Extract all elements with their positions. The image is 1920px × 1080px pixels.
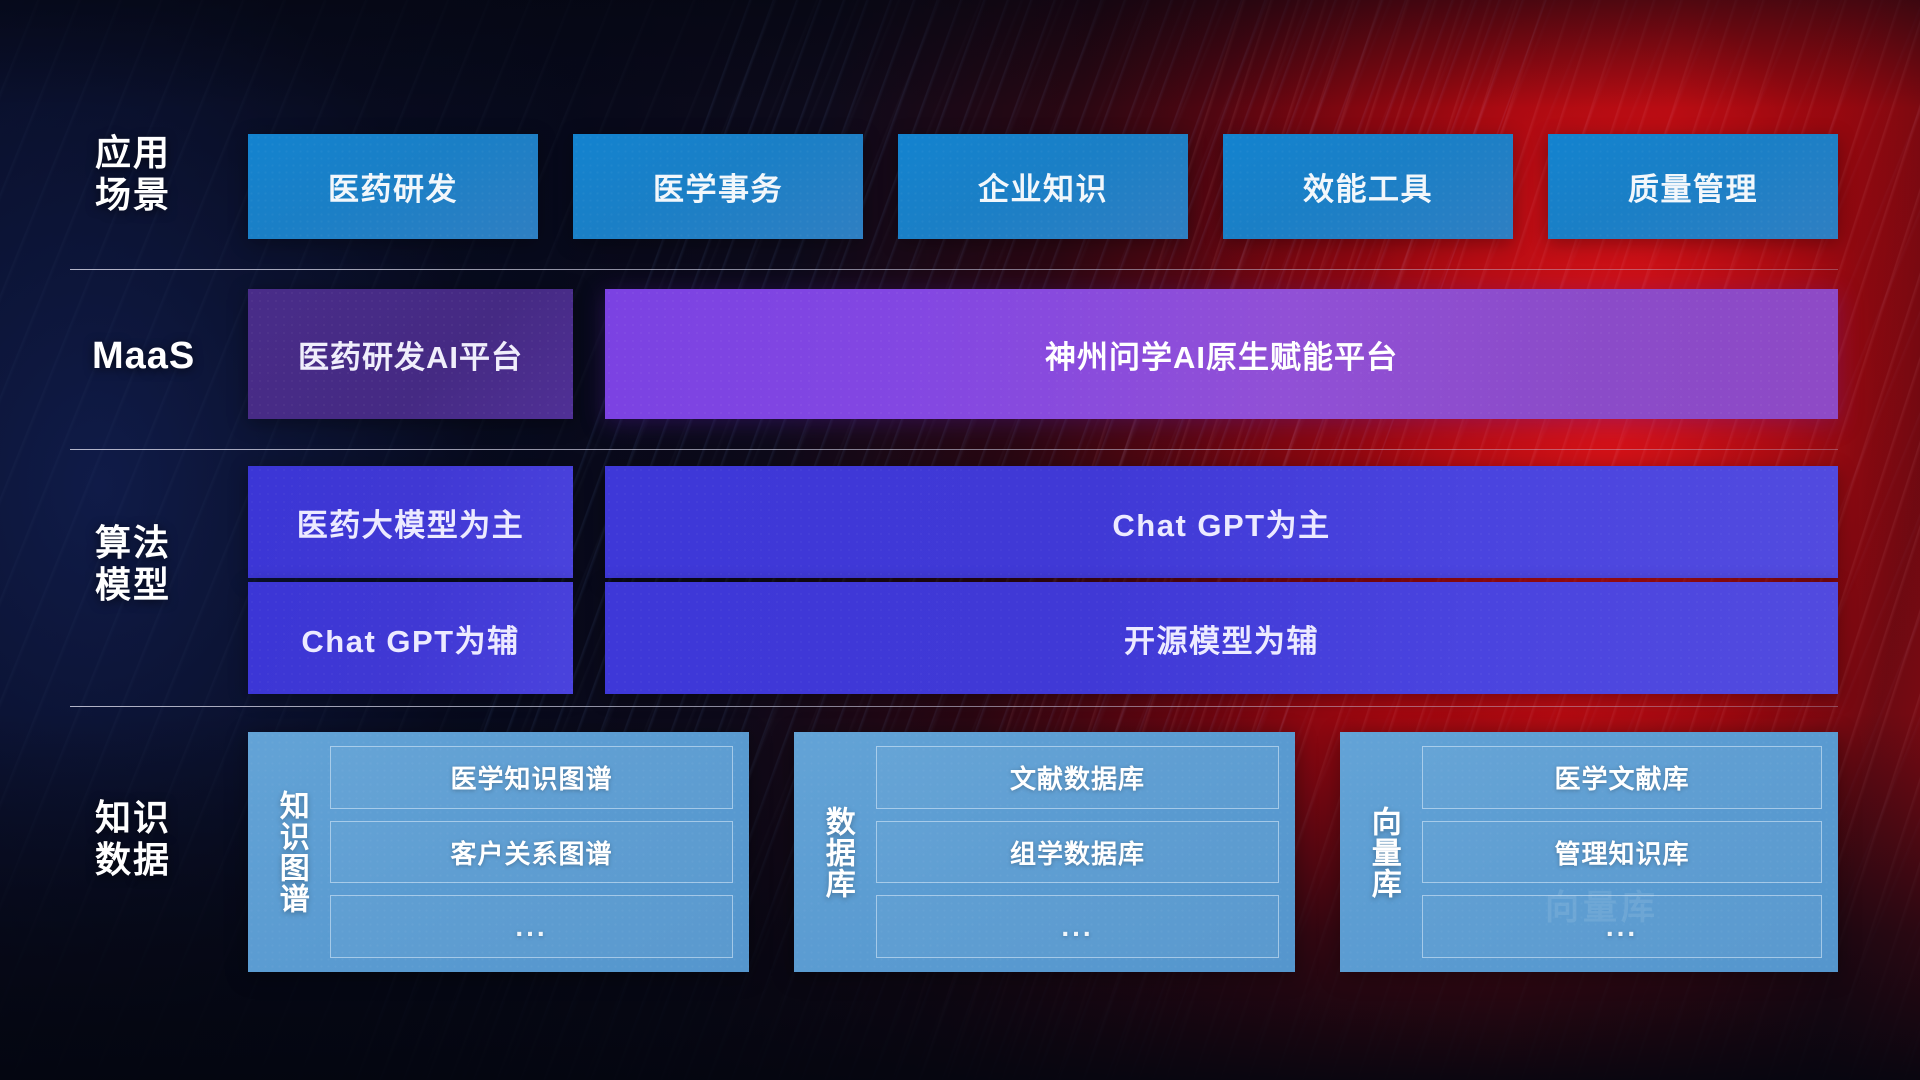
row-label-application: 应用 场景 [95, 132, 255, 216]
row-label-knowledge-line2: 数据 [95, 839, 265, 881]
knowledge-item-label: ... [1061, 911, 1093, 943]
knowledge-item-label: ... [515, 911, 547, 943]
knowledge-panel-vertical-label: 知识图谱 [258, 746, 324, 958]
knowledge-panel-vertical-label: 数据库 [804, 746, 870, 958]
app-box-medical-affairs[interactable]: 医学事务 [573, 134, 863, 239]
knowledge-item-label: 医学知识图谱 [450, 759, 612, 796]
app-box-label: 效能工具 [1303, 164, 1433, 209]
algo-box-opensource-secondary[interactable]: 开源模型为辅 [605, 582, 1838, 694]
knowledge-item[interactable]: 客户关系图谱 [330, 821, 733, 884]
algo-box-medicine-llm-primary[interactable]: 医药大模型为主 [248, 466, 573, 578]
app-box-label: 医学事务 [653, 164, 783, 209]
app-box-efficiency-tools[interactable]: 效能工具 [1223, 134, 1513, 239]
knowledge-item-label: 管理知识库 [1554, 834, 1689, 871]
knowledge-panel-graph[interactable]: 知识图谱 医学知识图谱 客户关系图谱 ... [248, 732, 749, 972]
knowledge-panel-items: 医学知识图谱 客户关系图谱 ... [324, 746, 733, 958]
architecture-diagram: 应用 场景 医药研发 医学事务 企业知识 效能工具 质量管理 MaaS 医药研发… [0, 0, 1920, 1080]
knowledge-item[interactable]: 管理知识库 [1422, 821, 1822, 884]
app-box-label: 质量管理 [1628, 164, 1758, 209]
knowledge-panel-items: 文献数据库 组学数据库 ... [870, 746, 1279, 958]
knowledge-panel-database[interactable]: 数据库 文献数据库 组学数据库 ... [794, 732, 1295, 972]
app-box-quality-management[interactable]: 质量管理 [1548, 134, 1838, 239]
row-label-algorithm: 算法 模型 [95, 522, 255, 606]
divider-application-maas [70, 269, 1838, 270]
row-label-maas-text: MaaS [92, 335, 195, 377]
knowledge-item[interactable]: 组学数据库 [876, 821, 1279, 884]
row-label-knowledge-line1: 知识 [95, 797, 265, 839]
divider-maas-algorithm [70, 449, 1838, 450]
maas-box-label: 医药研发AI平台 [298, 332, 523, 377]
algo-box-label: 医药大模型为主 [297, 500, 525, 545]
knowledge-item-label: 医学文献库 [1554, 759, 1689, 796]
maas-box-shenzhou-platform[interactable]: 神州问学AI原生赋能平台 [605, 289, 1838, 419]
knowledge-item-label: 文献数据库 [1010, 759, 1145, 796]
maas-box-label: 神州问学AI原生赋能平台 [1045, 332, 1398, 377]
algo-box-label: 开源模型为辅 [1124, 616, 1319, 661]
app-box-enterprise-knowledge[interactable]: 企业知识 [898, 134, 1188, 239]
slide-canvas: 应用 场景 医药研发 医学事务 企业知识 效能工具 质量管理 MaaS 医药研发… [0, 0, 1920, 1080]
knowledge-item-more[interactable]: ... [876, 895, 1279, 958]
maas-box-medicine-ai-platform[interactable]: 医药研发AI平台 [248, 289, 573, 419]
algo-box-label: Chat GPT为辅 [301, 616, 519, 661]
knowledge-item[interactable]: 文献数据库 [876, 746, 1279, 809]
row-label-application-line1: 应用 [95, 132, 255, 174]
algo-box-label: Chat GPT为主 [1112, 500, 1330, 545]
row-label-knowledge: 知识 数据 [95, 797, 265, 881]
app-box-medicine-rd[interactable]: 医药研发 [248, 134, 538, 239]
knowledge-item-more[interactable]: ... [330, 895, 733, 958]
knowledge-item-label: ... [1606, 911, 1638, 943]
app-box-label: 企业知识 [978, 164, 1108, 209]
row-label-maas: MaaS [92, 334, 272, 378]
row-label-application-line2: 场景 [95, 174, 255, 216]
knowledge-item[interactable]: 医学知识图谱 [330, 746, 733, 809]
knowledge-item-label: 客户关系图谱 [450, 834, 612, 871]
row-label-algorithm-line2: 模型 [95, 564, 255, 606]
knowledge-panel-vector[interactable]: 向量库 医学文献库 管理知识库 ... 向量库 [1340, 732, 1838, 972]
algo-box-chatgpt-secondary[interactable]: Chat GPT为辅 [248, 582, 573, 694]
divider-algorithm-knowledge [70, 706, 1838, 707]
knowledge-panel-vertical-label: 向量库 [1350, 746, 1416, 958]
knowledge-item-label: 组学数据库 [1010, 834, 1145, 871]
knowledge-item-more[interactable]: ... [1422, 895, 1822, 958]
row-label-algorithm-line1: 算法 [95, 522, 255, 564]
app-box-label: 医药研发 [328, 164, 458, 209]
knowledge-item[interactable]: 医学文献库 [1422, 746, 1822, 809]
algo-box-chatgpt-primary[interactable]: Chat GPT为主 [605, 466, 1838, 578]
knowledge-panel-items: 医学文献库 管理知识库 ... [1416, 746, 1822, 958]
